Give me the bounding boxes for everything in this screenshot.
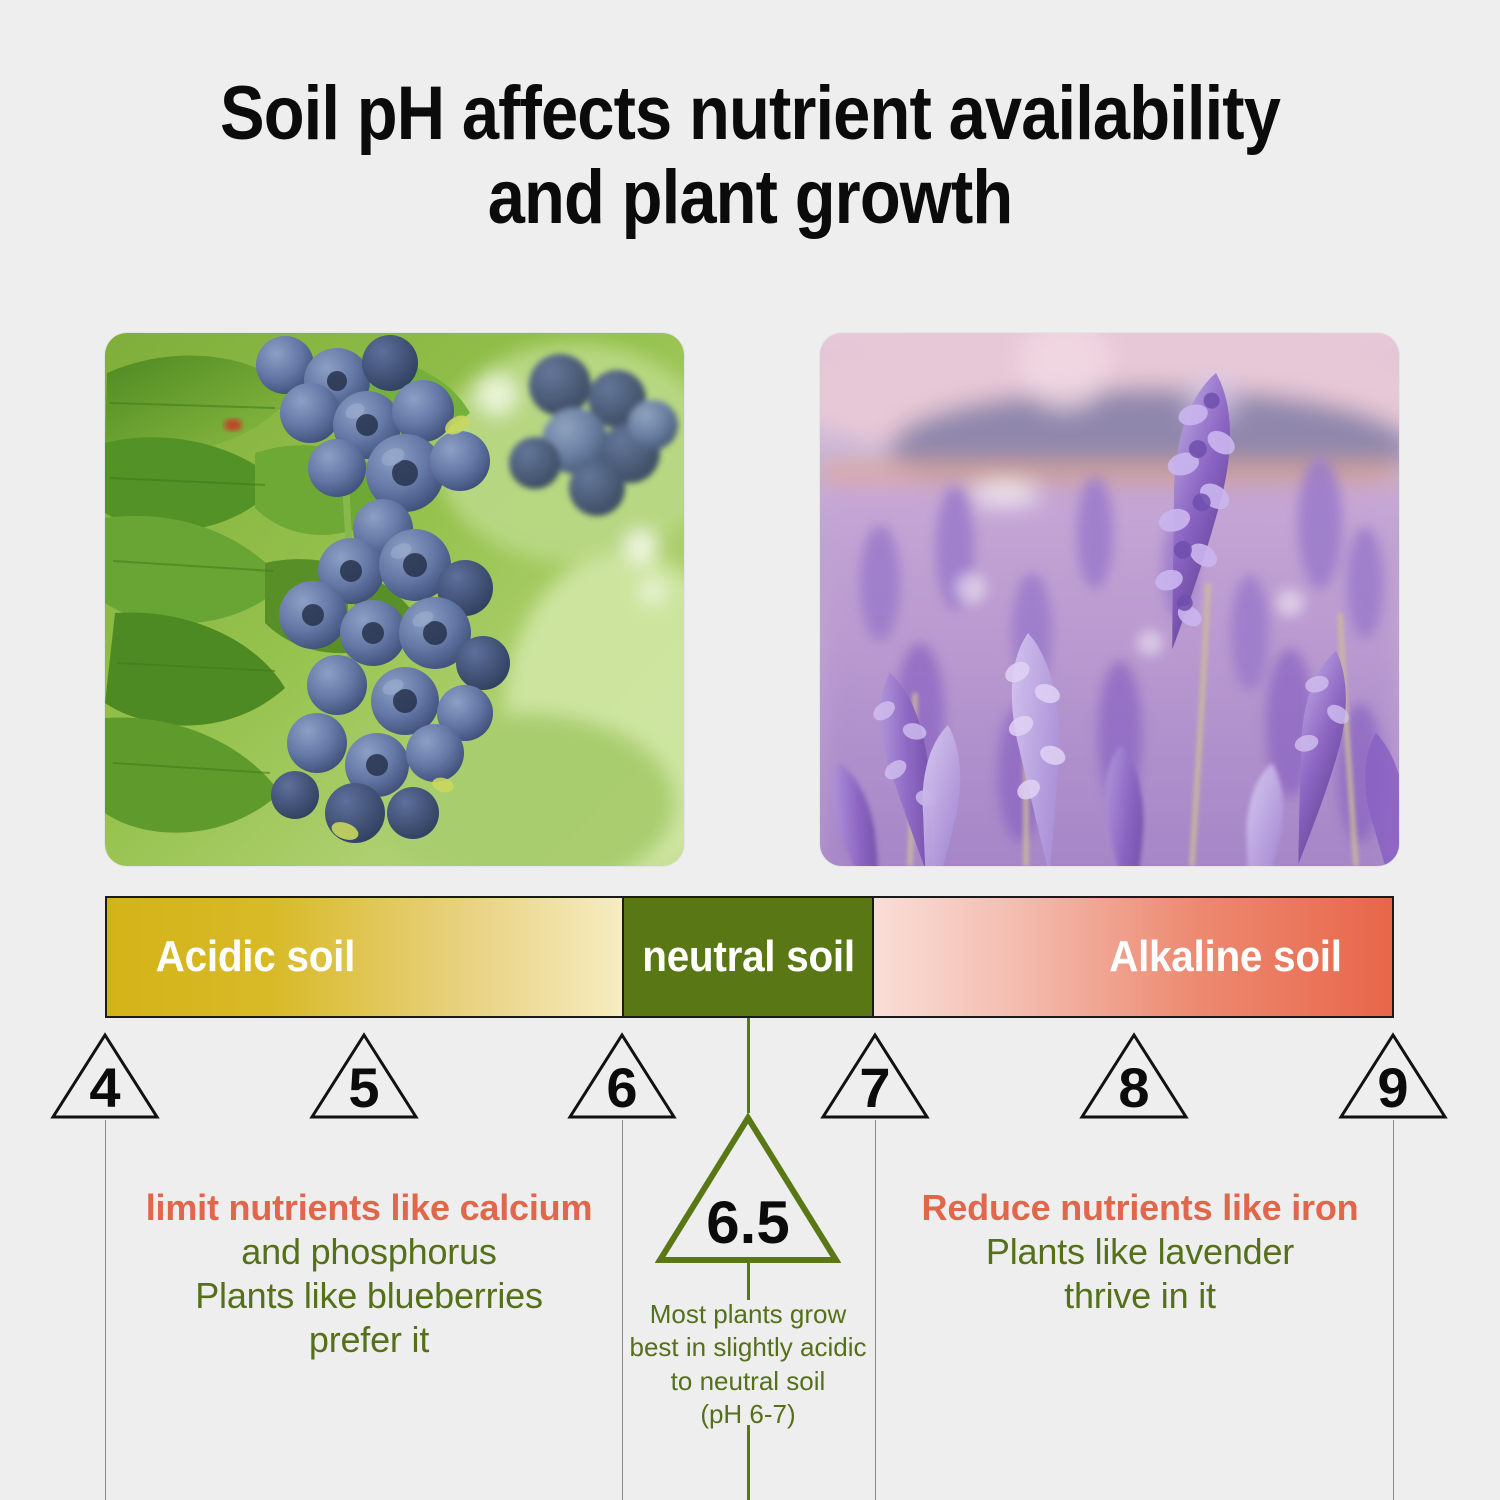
caption-acidic-line-1: and phosphorus: [118, 1230, 620, 1274]
caption-alkaline-line-1: Plants like lavender: [895, 1230, 1385, 1274]
ph-tick-5: 5: [309, 1032, 419, 1120]
ph-scale-bar: Acidic soil neutral soil Alkaline soil: [105, 896, 1394, 1018]
ph-highlight-note-line-1: Most plants grow: [598, 1298, 898, 1331]
dropline-ph-4: [105, 1120, 106, 1500]
lavender-illustration: [820, 333, 1399, 866]
caption-acidic-line-3: prefer it: [118, 1318, 620, 1362]
ph-highlight-note: Most plants grow best in slightly acidic…: [598, 1298, 898, 1431]
ph-tick-8-label: 8: [1079, 1032, 1189, 1120]
ph-tick-4: 4: [50, 1032, 160, 1120]
ph-highlight-stem-top: [747, 1018, 750, 1113]
ph-highlight-stem-bottom: [747, 1425, 750, 1500]
lavender-photo: [820, 333, 1399, 866]
ph-tick-7-label: 7: [820, 1032, 930, 1120]
ph-tick-9: 9: [1338, 1032, 1448, 1120]
caption-acidic-line-2: Plants like blueberries: [118, 1274, 620, 1318]
blueberries-illustration: [105, 333, 684, 866]
blueberries-photo: [105, 333, 684, 866]
ph-tick-8: 8: [1079, 1032, 1189, 1120]
ph-highlight-note-line-2: best in slightly acidic: [598, 1331, 898, 1364]
ph-highlight-value: 6.5: [655, 1113, 841, 1265]
ph-segment-acidic-label: Acidic soil: [156, 932, 355, 982]
ph-segment-alkaline-label: Alkaline soil: [1109, 932, 1342, 982]
ph-segment-neutral: neutral soil: [622, 898, 874, 1016]
page-title: Soil pH affects nutrient availability an…: [187, 72, 1313, 239]
infographic-canvas: Soil pH affects nutrient availability an…: [0, 0, 1500, 1500]
ph-tick-4-label: 4: [50, 1032, 160, 1120]
ph-highlight-stem-mid: [747, 1260, 750, 1300]
caption-alkaline: Reduce nutrients like iron Plants like l…: [895, 1186, 1385, 1318]
ph-highlight-triangle: 6.5: [655, 1113, 841, 1265]
ph-segment-alkaline: Alkaline soil: [874, 898, 1392, 1016]
caption-acidic: limit nutrients like calcium and phospho…: [118, 1186, 620, 1362]
ph-tick-5-label: 5: [309, 1032, 419, 1120]
ph-highlight-note-line-3: to neutral soil: [598, 1365, 898, 1398]
ph-tick-9-label: 9: [1338, 1032, 1448, 1120]
ph-tick-6-label: 6: [567, 1032, 677, 1120]
caption-acidic-headline: limit nutrients like calcium: [118, 1186, 620, 1230]
caption-alkaline-line-2: thrive in it: [895, 1274, 1385, 1318]
dropline-ph-9: [1393, 1120, 1394, 1500]
ph-segment-acidic: Acidic soil: [107, 898, 622, 1016]
caption-alkaline-headline: Reduce nutrients like iron: [895, 1186, 1385, 1230]
ph-segment-neutral-label: neutral soil: [642, 932, 855, 982]
ph-tick-7: 7: [820, 1032, 930, 1120]
ph-tick-6: 6: [567, 1032, 677, 1120]
